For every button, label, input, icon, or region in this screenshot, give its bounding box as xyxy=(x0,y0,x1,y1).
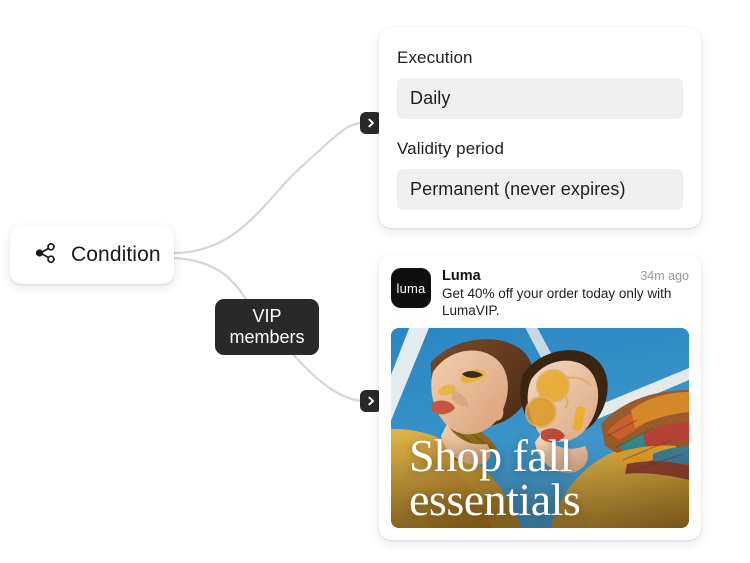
execution-label: Execution xyxy=(397,48,683,68)
hero-caption-line1: Shop fall xyxy=(409,434,580,478)
flow-canvas[interactable]: Condition VIP members Execution Daily Va… xyxy=(0,0,750,563)
notification-title-row: Luma 34m ago xyxy=(442,268,689,284)
connector-to-settings xyxy=(174,123,361,253)
notification-brand: Luma xyxy=(442,268,481,284)
notification-header: luma Luma 34m ago Get 40% off your order… xyxy=(391,268,689,319)
notification-timestamp: 34m ago xyxy=(640,269,689,283)
validity-period-label: Validity period xyxy=(397,139,683,159)
luma-logo-text: luma xyxy=(397,281,426,296)
condition-node[interactable]: Condition xyxy=(10,226,174,284)
branch-badge-vip-members[interactable]: VIP members xyxy=(215,299,319,355)
luma-logo-icon: luma xyxy=(391,268,431,308)
condition-node-label: Condition xyxy=(71,243,161,267)
branch-badge-line2: members xyxy=(229,327,304,348)
notification-body: Get 40% off your order today only with L… xyxy=(442,286,689,319)
share-icon xyxy=(32,240,58,271)
validity-period-value[interactable]: Permanent (never expires) xyxy=(397,169,683,210)
notification-preview-card[interactable]: luma Luma 34m ago Get 40% off your order… xyxy=(379,255,701,540)
hero-caption: Shop fall essentials xyxy=(409,434,580,522)
branch-badge-line1: VIP xyxy=(252,306,281,327)
notification-text-block: Luma 34m ago Get 40% off your order toda… xyxy=(442,268,689,319)
notification-hero-image[interactable]: Shop fall essentials xyxy=(391,328,689,528)
settings-card[interactable]: Execution Daily Validity period Permanen… xyxy=(379,28,701,228)
execution-value[interactable]: Daily xyxy=(397,78,683,119)
hero-caption-line2: essentials xyxy=(409,478,580,522)
